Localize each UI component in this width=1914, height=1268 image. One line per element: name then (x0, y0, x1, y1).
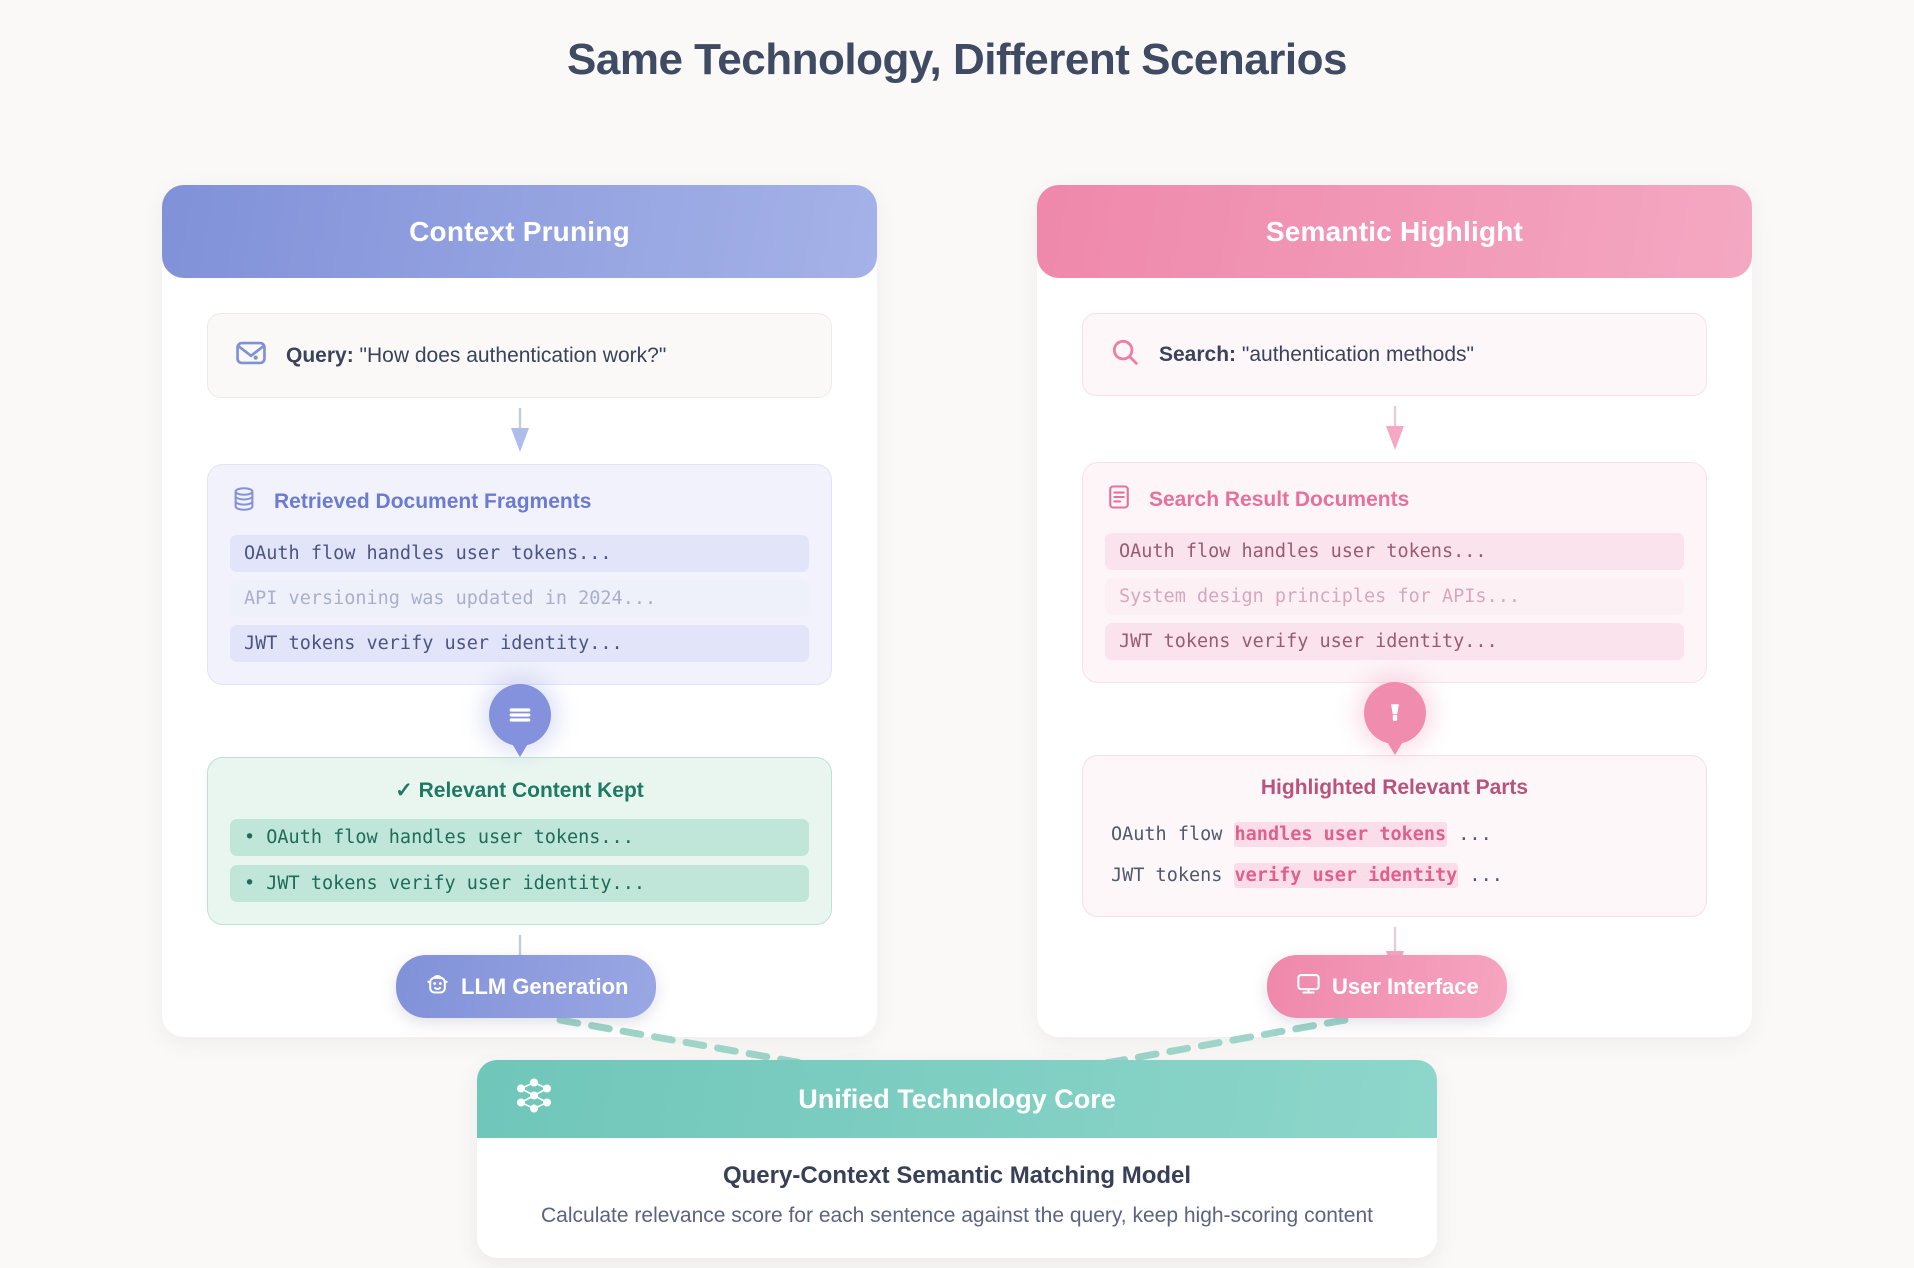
highlighted-parts-title: Highlighted Relevant Parts (1105, 776, 1684, 800)
fragment-item: OAuth flow handles user tokens... (230, 535, 809, 572)
robot-icon (424, 970, 451, 1003)
core-description: Calculate relevance score for each sente… (507, 1204, 1407, 1228)
arrow-down-right-1 (1082, 396, 1707, 462)
core-subtitle: Query-Context Semantic Matching Model (507, 1162, 1407, 1190)
search-input-box[interactable]: Search: "authentication methods" (1082, 313, 1707, 396)
hl-pre: OAuth flow (1111, 824, 1234, 845)
pin-wrap-right (1082, 677, 1707, 755)
retrieved-fragments-group: Retrieved Document Fragments OAuth flow … (207, 464, 832, 685)
llm-generation-button[interactable]: LLM Generation (396, 955, 656, 1018)
kept-item: • OAuth flow handles user tokens... (230, 819, 809, 856)
fragment-item: JWT tokens verify user identity... (230, 625, 809, 662)
relevant-content-title: ✓ Relevant Content Kept (230, 778, 809, 803)
core-header: Unified Technology Core (477, 1060, 1437, 1138)
hl-mark: verify user identity (1234, 863, 1459, 888)
relevant-content-group: ✓ Relevant Content Kept • OAuth flow han… (207, 757, 832, 925)
panel-semantic-highlight: Semantic Highlight Search: "authenticati… (1037, 185, 1752, 1037)
database-icon (230, 485, 258, 519)
search-results-group: Search Result Documents OAuth flow handl… (1082, 462, 1707, 683)
core-body: Query-Context Semantic Matching Model Ca… (477, 1138, 1437, 1258)
query-text: Query: "How does authentication work?" (286, 344, 666, 368)
hl-post: ... (1458, 865, 1503, 886)
arrow-down-left-1 (207, 398, 832, 464)
search-result-item: System design principles for APIs... (1105, 578, 1684, 615)
monitor-icon (1295, 970, 1322, 1003)
llm-generation-label: LLM Generation (461, 974, 628, 1000)
search-results-title-row: Search Result Documents (1105, 483, 1684, 517)
panel-header-left: Context Pruning (162, 185, 877, 278)
hl-post: ... (1447, 824, 1492, 845)
panel-context-pruning: Context Pruning Query: "How does authent… (162, 185, 877, 1037)
search-result-item: OAuth flow handles user tokens... (1105, 533, 1684, 570)
unified-technology-core: Unified Technology Core Query-Context Se… (477, 1060, 1437, 1258)
page-title: Same Technology, Different Scenarios (0, 0, 1914, 85)
hl-pre: JWT tokens (1111, 865, 1234, 886)
retrieved-fragments-title: Retrieved Document Fragments (274, 490, 591, 514)
core-header-label: Unified Technology Core (798, 1084, 1116, 1115)
highlighter-icon (1364, 682, 1426, 744)
highlighted-parts-group: Highlighted Relevant Parts OAuth flow ha… (1082, 755, 1707, 917)
highlighted-item: JWT tokens verify user identity ... (1105, 857, 1684, 894)
user-interface-label: User Interface (1332, 974, 1479, 1000)
search-value: "authentication methods" (1242, 343, 1474, 366)
retrieved-fragments-title-row: Retrieved Document Fragments (230, 485, 809, 519)
fragment-item: API versioning was updated in 2024... (230, 580, 809, 617)
search-text: Search: "authentication methods" (1159, 343, 1474, 367)
search-icon (1109, 336, 1141, 373)
query-value: "How does authentication work?" (360, 344, 667, 367)
search-result-item: JWT tokens verify user identity... (1105, 623, 1684, 660)
neural-network-icon (513, 1075, 555, 1124)
panel-header-right: Semantic Highlight (1037, 185, 1752, 278)
kept-item: • JWT tokens verify user identity... (230, 865, 809, 902)
highlighted-item: OAuth flow handles user tokens ... (1105, 816, 1684, 853)
query-label: Query: (286, 344, 354, 367)
search-results-title: Search Result Documents (1149, 488, 1409, 512)
query-input-box[interactable]: Query: "How does authentication work?" (207, 313, 832, 398)
document-icon (1105, 483, 1133, 517)
envelope-icon (234, 336, 268, 375)
filter-lines-icon (489, 684, 551, 746)
pin-wrap-left (207, 679, 832, 757)
user-interface-button[interactable]: User Interface (1267, 955, 1507, 1018)
search-label: Search: (1159, 343, 1236, 366)
hl-mark: handles user tokens (1234, 822, 1448, 847)
